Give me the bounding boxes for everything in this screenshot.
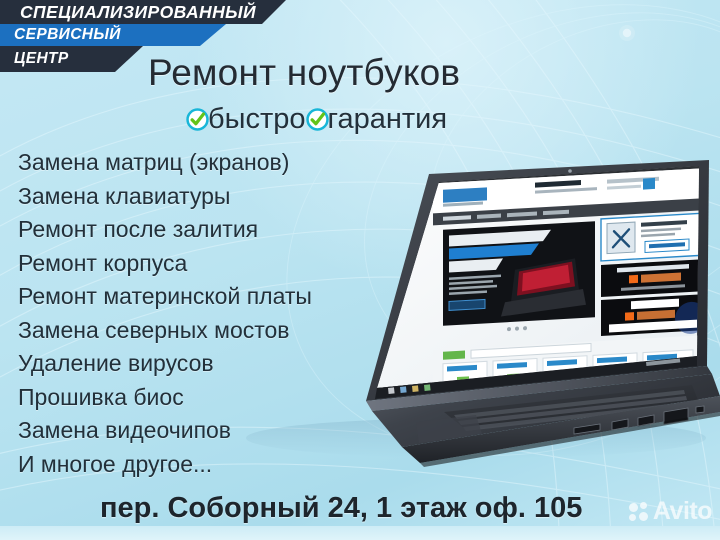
list-item: Ремонт корпуса: [18, 247, 312, 281]
badge-specialized-label: СПЕЦИАЛИЗИРОВАННЫЙ: [20, 2, 256, 23]
badge-center-label: ЦЕНТР: [14, 50, 69, 68]
page-title: Ремонт ноутбуков: [148, 52, 460, 94]
list-item: Удаление вирусов: [18, 347, 312, 381]
benefits-row: быстро гарантия: [186, 103, 447, 136]
services-list: Замена матриц (экранов) Замена клавиатур…: [18, 146, 312, 481]
benefit-fast-label: быстро: [208, 103, 306, 136]
poster-canvas: СПЕЦИАЛИЗИРОВАННЫЙ СЕРВИСНЫЙ ЦЕНТР Ремон…: [0, 0, 720, 540]
avito-logo-icon: [629, 502, 649, 522]
list-item: Ремонт после залития: [18, 213, 312, 247]
badge-service: СЕРВИСНЫЙ: [0, 24, 226, 46]
check-circle-icon: [186, 108, 209, 131]
badge-service-label: СЕРВИСНЫЙ: [14, 26, 121, 44]
avito-watermark-label: Avito: [653, 497, 712, 526]
list-item: Замена северных мостов: [18, 314, 312, 348]
list-item: Прошивка биос: [18, 381, 312, 415]
benefit-warranty-label: гарантия: [328, 103, 448, 136]
avito-watermark: Avito: [629, 497, 712, 526]
address-text: пер. Соборный 24, 1 этаж оф. 105: [100, 492, 582, 525]
list-item: Замена матриц (экранов): [18, 146, 312, 180]
list-item: Замена клавиатуры: [18, 180, 312, 214]
list-item: И многое другое...: [18, 448, 312, 482]
list-item: Замена видеочипов: [18, 414, 312, 448]
bottom-strip: [0, 526, 720, 540]
check-circle-icon-2: [306, 108, 329, 131]
badge-specialized: СПЕЦИАЛИЗИРОВАННЫЙ: [0, 0, 286, 24]
badge-center: ЦЕНТР: [0, 46, 143, 72]
list-item: Ремонт материнской платы: [18, 280, 312, 314]
